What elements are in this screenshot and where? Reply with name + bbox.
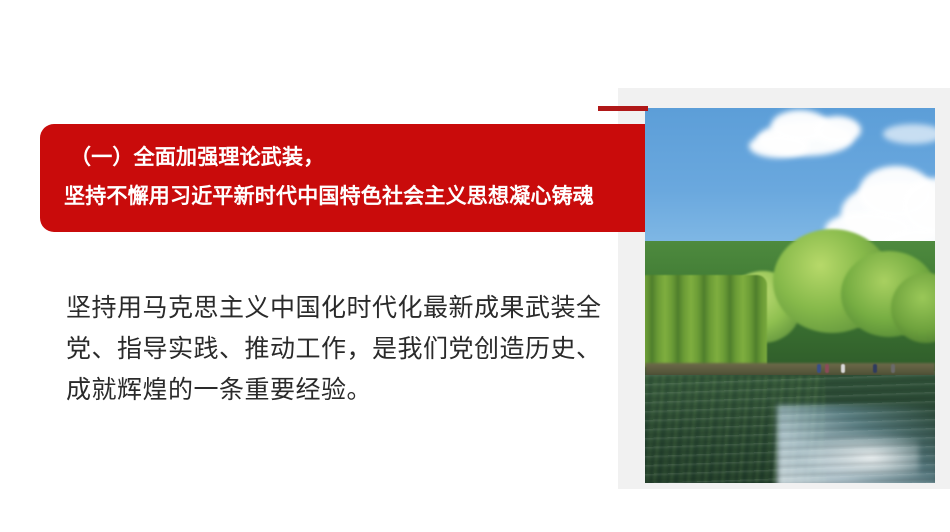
- cloud-icon: [813, 116, 861, 144]
- person-figure: [841, 364, 845, 373]
- title-line-2: 坚持不懈用习近平新时代中国特色社会主义思想凝心铸魂: [64, 177, 627, 216]
- person-figure: [891, 364, 895, 373]
- landscape-photo: [645, 108, 935, 483]
- title-line-1: （一）全面加强理论武装，: [64, 138, 627, 177]
- person-figure: [817, 364, 821, 373]
- person-figure: [873, 364, 877, 373]
- cloud-icon: [883, 124, 935, 144]
- water-ripples: [645, 375, 935, 483]
- lake-water: [645, 375, 935, 483]
- cloud-icon: [749, 134, 809, 158]
- slide-canvas: （一）全面加强理论武装， 坚持不懈用习近平新时代中国特色社会主义思想凝心铸魂 坚…: [0, 0, 950, 532]
- person-figure: [825, 364, 829, 373]
- poplar-row: [645, 275, 767, 367]
- body-paragraph: 坚持用马克思主义中国化时代化最新成果武装全党、指导实践、推动工作，是我们党创造历…: [66, 288, 606, 411]
- accent-bar: [598, 106, 648, 111]
- title-banner: （一）全面加强理论武装， 坚持不懈用习近平新时代中国特色社会主义思想凝心铸魂: [40, 124, 645, 232]
